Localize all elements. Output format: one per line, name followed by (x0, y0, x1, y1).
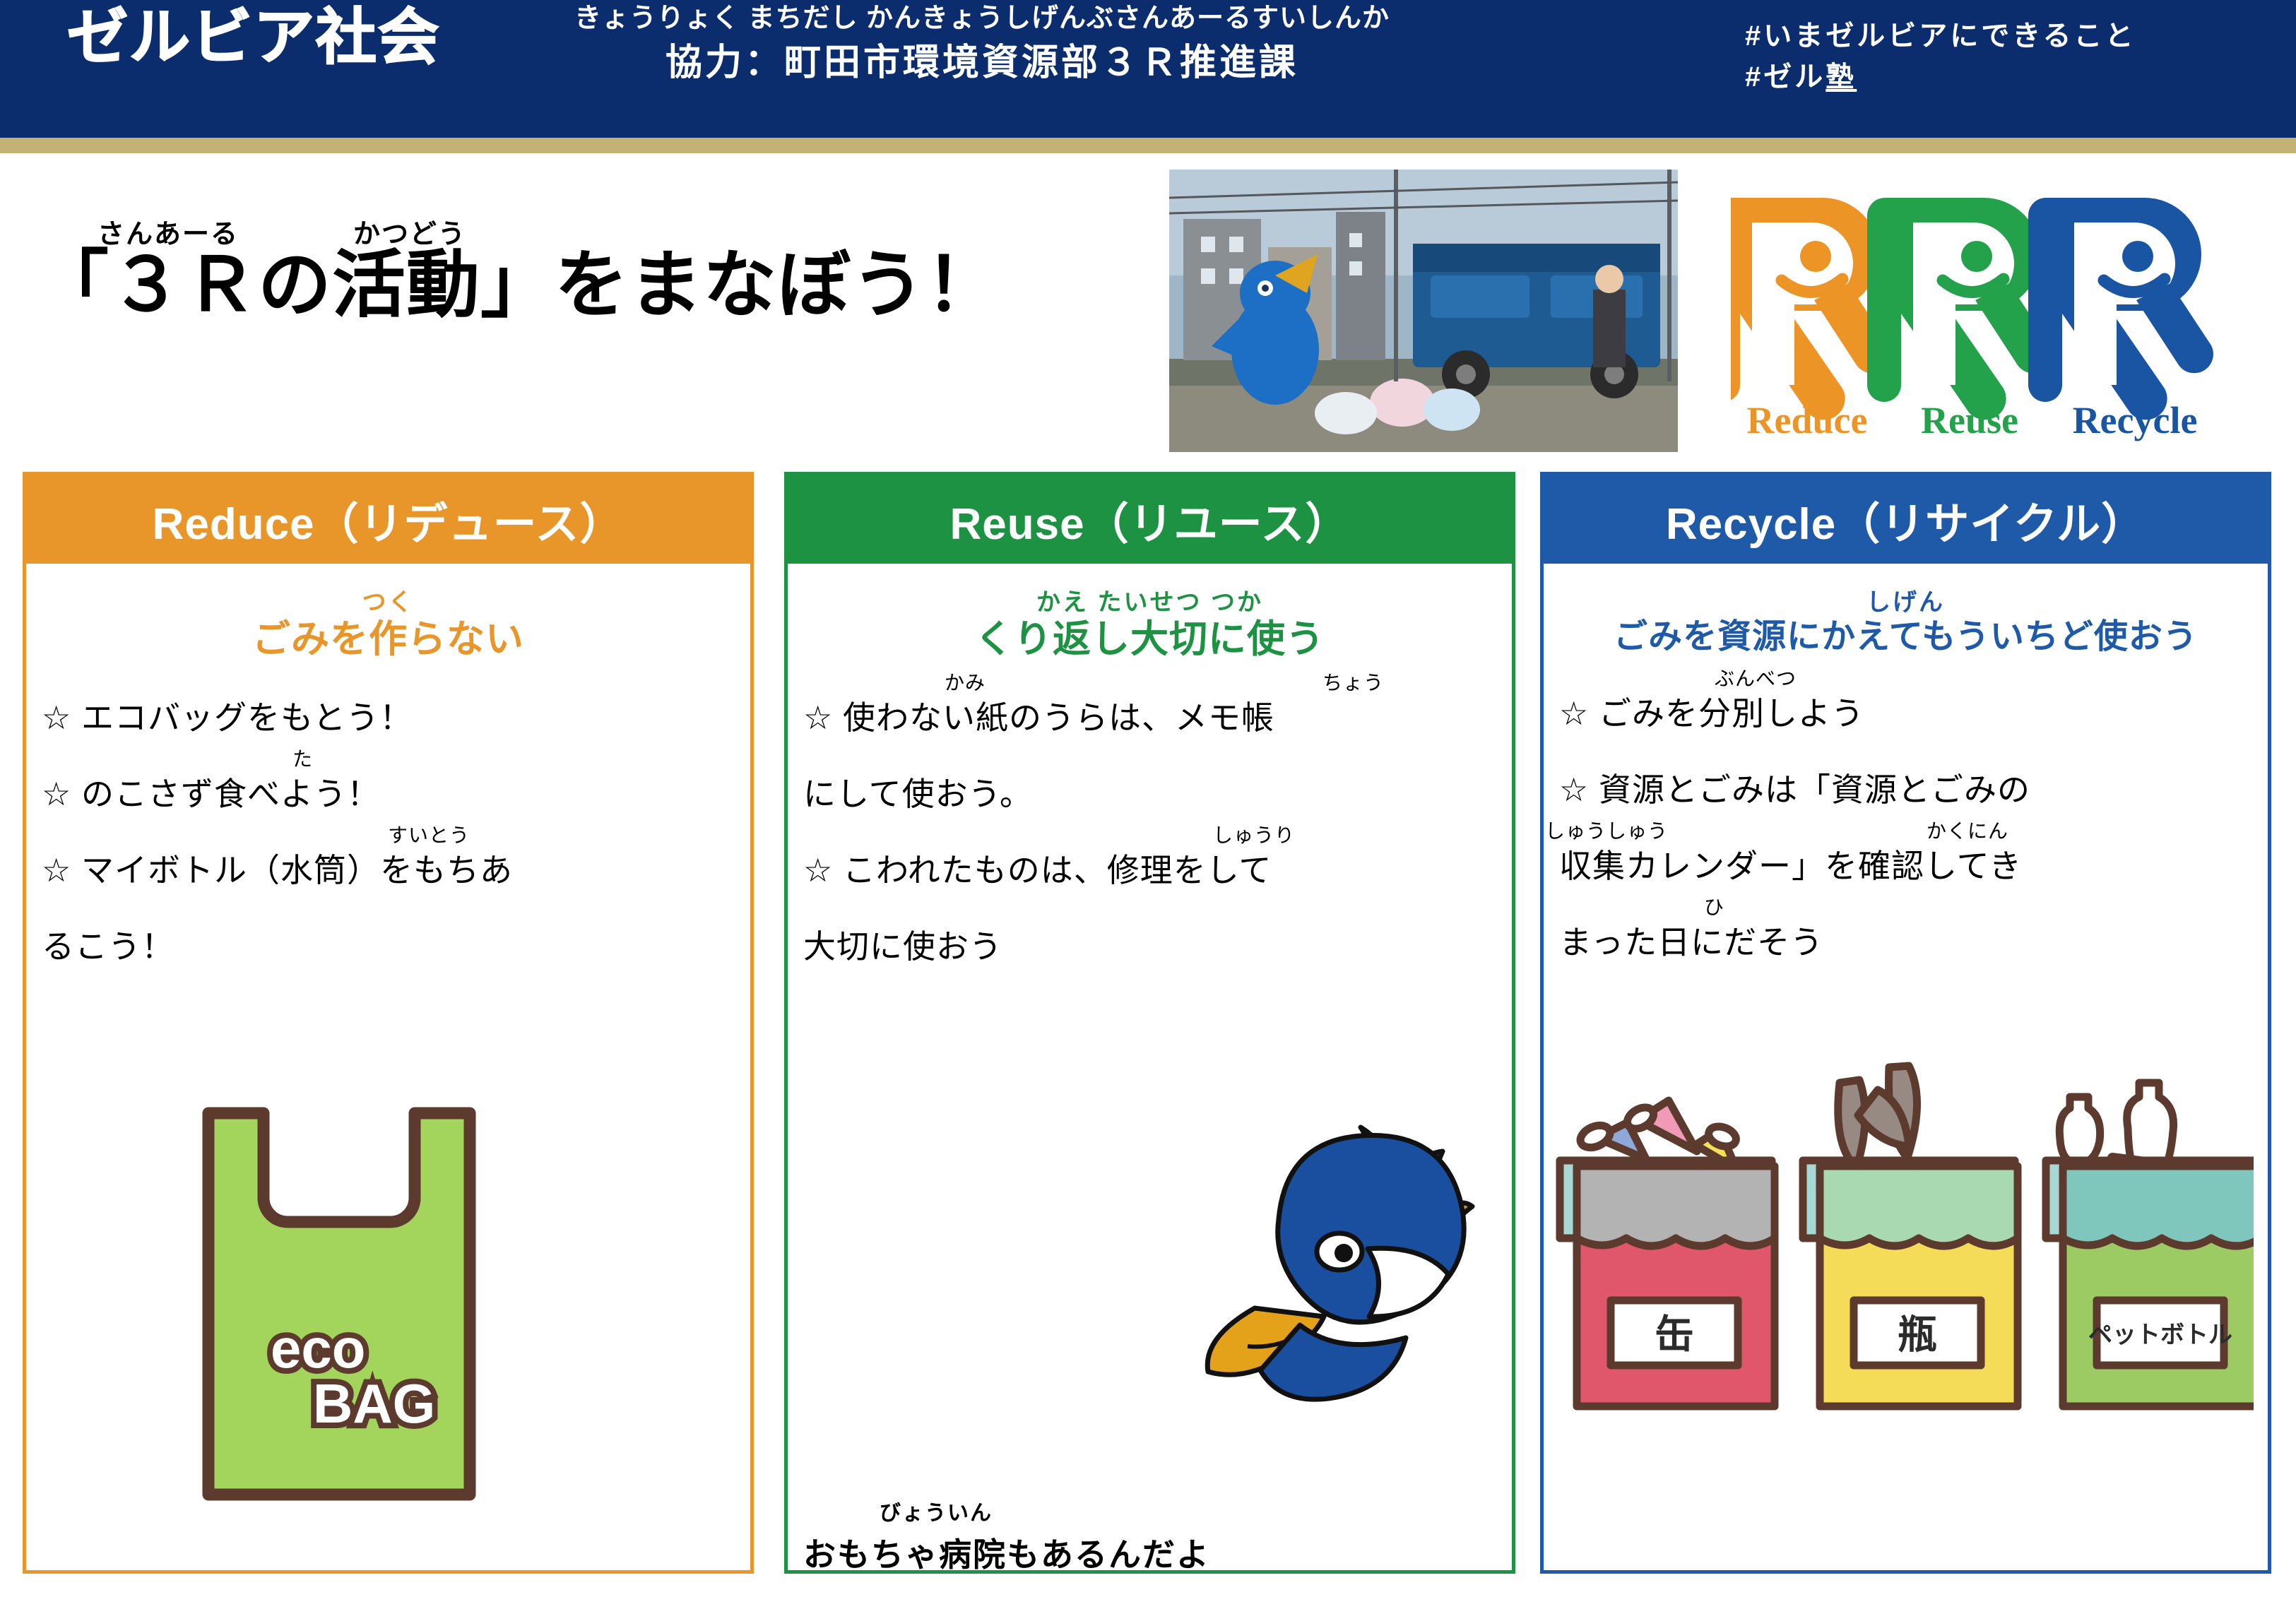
column-body-reduce: つく ごみを作らない ☆ エコバッグをもとう！ た ☆ のこさず食べよう！ すい… (26, 590, 750, 1597)
hashtag-ima-zelvia: #いまゼルビアにできること (1745, 16, 2136, 57)
reduce-bullet-2-text: ☆ のこさず食べよう！ (42, 776, 380, 812)
hashtag-zel-juku: #ゼル塾 (1745, 57, 2136, 97)
reduce-bullet-2-ruby: た (292, 749, 313, 769)
reduce-bullet-2: た ☆ のこさず食べよう！ (42, 778, 735, 810)
brand-title: ゼルビア社会 (67, 6, 440, 69)
page-title-block: さんあーる かつどう 「３Ｒの活動」をまなぼう！ (35, 212, 1000, 326)
logo-r-recycle (2028, 198, 2213, 420)
recycle-bullet-4: ひ まった日にだそう (1559, 926, 2252, 958)
reuse-bullet-3-ruby: しゅうり (1213, 826, 1295, 845)
header-bar: ゼルビア社会 きょうりょく まちだし かんきょうしげんぶさんあーるすいしんか 協… (0, 0, 2296, 138)
column-reuse: Reuse（リユース） かえ たいせつ つか くり返し大切に使う かみ ちょう … (784, 472, 1515, 1574)
recycle-bullets: ぶんべつ ☆ ごみを分別しよう ☆ 資源とごみは「資源とごみの しゅうしゅう か… (1544, 697, 2268, 958)
reduce-bullet-4: るこう！ (42, 930, 735, 963)
reduce-sub-main: ごみを作らない (26, 619, 750, 660)
recycling-bins-graphic: 缶 瓶 ペットボトル (1554, 1053, 2254, 1420)
bin-label-bin: 瓶 (1898, 1312, 1937, 1357)
reuse-bullet-1-ruby: かみ (945, 673, 986, 693)
bin-pet (2046, 1083, 2254, 1406)
reuse-bullet-2-text: にして使おう。 (803, 776, 1033, 812)
header-gold-rule (0, 138, 2296, 153)
bin-label-can: 缶 (1655, 1312, 1694, 1357)
credit-ruby: きょうりょく まちだし かんきょうしげんぶさんあーるすいしんか (523, 4, 1441, 34)
column-body-recycle: しげん ごみを資源にかえてもういちど使おう ぶんべつ ☆ ごみを分別しよう ☆ … (1544, 590, 2268, 1597)
hashtag-zel-prefix: #ゼル (1745, 61, 1825, 93)
reuse-bullet-1: かみ ちょう ☆ 使わない紙のうらは、メモ帳 (803, 701, 1496, 734)
recycle-bullet-3-ruby-2: かくにん (1927, 821, 2008, 841)
title-ruby-sanaaru: さんあーる (97, 212, 239, 251)
eco-bag-illustration: eco BAG (187, 1085, 491, 1523)
reduce-bullet-3-ruby: すいとう (388, 826, 470, 845)
recycle-bullet-4-text: まった日にだそう (1559, 924, 1823, 961)
reuse-footnote-ruby: びょういん (880, 1495, 1210, 1526)
recycle-bullet-1-ruby: ぶんべつ (1715, 669, 1797, 689)
logo-label-reuse: Reuse (1921, 399, 2018, 441)
bin-label-pet: ペットボトル (2088, 1322, 2232, 1348)
reduce-sub-ruby: つく (26, 590, 750, 615)
hashtag-zel-underlined: 塾 (1825, 61, 1857, 93)
reduce-bullet-4-text: るこう！ (42, 928, 174, 965)
logo-r-reuse (1867, 198, 2052, 420)
event-photo-image (1169, 170, 1678, 452)
recycle-bullet-1-text: ☆ ごみを分別しよう (1559, 695, 1864, 732)
recycling-bins-illustration: 缶 瓶 ペットボトル (1554, 1053, 2254, 1420)
reuse-sub-ruby: かえ たいせつ つか (788, 590, 1512, 615)
column-reduce: Reduce（リデュース） つく ごみを作らない ☆ エコバッグをもとう！ た … (23, 472, 754, 1574)
reuse-footnote-text: おもちゃ病院もあるんだよ (803, 1529, 1210, 1576)
eco-bag-label-bag: BAG (313, 1372, 435, 1435)
reuse-bullet-4: 大切に使おう (803, 930, 1496, 963)
recycle-bullet-4-ruby: ひ (1704, 898, 1724, 918)
reuse-sub-main: くり返し大切に使う (788, 619, 1512, 660)
recycle-bullet-1: ぶんべつ ☆ ごみを分別しよう (1559, 697, 2252, 730)
rrr-logo: Reduce Reuse Recycle (1731, 173, 2239, 441)
reduce-bullet-1-text: ☆ エコバッグをもとう！ (42, 699, 413, 736)
eco-bag-graphic: eco BAG (187, 1085, 491, 1523)
logo-r-reduce (1731, 198, 1891, 420)
bin-can (1560, 1100, 1775, 1406)
recycle-bullet-3: しゅうしゅう かくにん 収集カレンダー」を確認してき (1559, 850, 2252, 882)
recycle-bullet-2-text: ☆ 資源とごみは「資源とごみの (1559, 771, 2030, 808)
column-header-recycle: Recycle（リサイクル） (1544, 475, 2268, 564)
reduce-bullet-3: すいとう ☆ マイボトル（水筒）をもちあ (42, 854, 735, 886)
reuse-bullet-2: にして使おう。 (803, 778, 1496, 810)
reuse-bullet-4-text: 大切に使おう (803, 928, 1002, 965)
reduce-bullet-3-text: ☆ マイボトル（水筒）をもちあ (42, 852, 513, 889)
reuse-bullet-3-text: ☆ こわれたものは、修理をして (803, 852, 1272, 889)
rrr-logo-graphic: Reduce Reuse Recycle (1731, 173, 2239, 441)
reduce-bullet-1: ☆ エコバッグをもとう！ (42, 701, 735, 734)
title-ruby-line: さんあーる かつどう (35, 212, 1000, 244)
mascot-bird-illustration (1194, 1113, 1477, 1431)
column-body-reuse: かえ たいせつ つか くり返し大切に使う かみ ちょう ☆ 使わない紙のうらは、… (788, 590, 1512, 1597)
poster-root: ゼルビア社会 きょうりょく まちだし かんきょうしげんぶさんあーるすいしんか 協… (0, 0, 2296, 1589)
column-header-reuse: Reuse（リユース） (788, 475, 1512, 564)
logo-label-reduce: Reduce (1747, 399, 1868, 441)
event-photo (1169, 170, 1678, 452)
title-ruby-katsudou: かつどう (353, 212, 466, 251)
page-title: 「３Ｒの活動」をまなぼう！ (35, 244, 1000, 326)
credit-main: 協力：町田市環境資源部３Ｒ推進課 (523, 38, 1441, 88)
reduce-bullets: ☆ エコバッグをもとう！ た ☆ のこさず食べよう！ すいとう ☆ マイボトル（… (26, 701, 750, 963)
reuse-bullet-1-text: ☆ 使わない紙のうらは、メモ帳 (803, 699, 1274, 736)
recycle-bullet-3-text: 収集カレンダー」を確認してき (1559, 848, 2022, 884)
reuse-bullet-1-ruby-2: ちょう (1322, 673, 1384, 693)
logo-label-recycle: Recycle (2073, 399, 2198, 441)
eco-bag-label-eco: eco (271, 1317, 365, 1379)
reuse-bullets: かみ ちょう ☆ 使わない紙のうらは、メモ帳 にして使おう。 しゅうり ☆ こわ… (788, 701, 1512, 963)
recycle-sub-ruby: しげん (1544, 590, 2268, 615)
recycle-sub-main: ごみを資源にかえてもういちど使おう (1544, 619, 2268, 656)
mascot-bird-graphic (1194, 1113, 1477, 1431)
column-header-reduce: Reduce（リデュース） (26, 475, 750, 564)
reuse-bullet-3: しゅうり ☆ こわれたものは、修理をして (803, 854, 1496, 886)
column-recycle: Recycle（リサイクル） しげん ごみを資源にかえてもういちど使おう ぶんべ… (1540, 472, 2271, 1574)
credit-block: きょうりょく まちだし かんきょうしげんぶさんあーるすいしんか 協力：町田市環境… (523, 4, 1441, 88)
recycle-bullet-2: ☆ 資源とごみは「資源とごみの (1559, 773, 2252, 806)
recycle-bullet-3-ruby: しゅうしゅう (1545, 821, 1668, 841)
reuse-footnote: びょういん おもちゃ病院もあるんだよ (803, 1495, 1210, 1576)
hashtag-block: #いまゼルビアにできること #ゼル塾 (1745, 16, 2136, 97)
